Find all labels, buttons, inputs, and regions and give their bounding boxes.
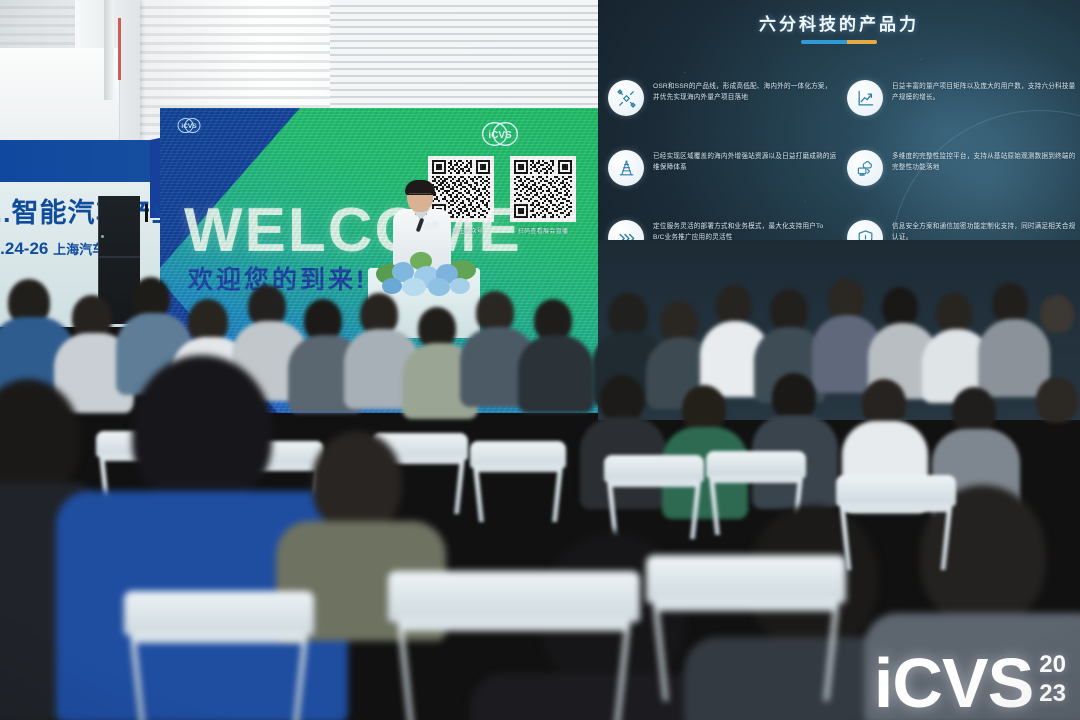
feature-item: 已经实现区域覆盖的海内外增强站资源以及日益打磨成熟的运维保障体系: [602, 148, 837, 218]
satellite-icon: [608, 80, 644, 116]
qr-card[interactable]: 扫码查看展会直播: [510, 156, 576, 235]
hall-red-pipe: [118, 18, 121, 80]
feature-item: OSR和SSR的产品线，形成高低配、海内外的一体化方案，并优先实现海内外量产项目…: [602, 78, 837, 148]
svg-text:iCVS: iCVS: [488, 130, 512, 141]
conference-photo: ...智能汽车产业 .8.24-26 上海汽车 iCVS WELCOME 欢迎您…: [0, 0, 1080, 720]
booth-doorknob: [101, 235, 104, 238]
qr-caption-2: 扫码查看展会直播: [510, 226, 576, 235]
icvs-watermark: iCVS 20 23: [874, 654, 1066, 712]
speaker-glasses: [409, 193, 431, 198]
icvs-logo-qr-icon: iCVS: [480, 120, 520, 148]
booth-wall-slit: [145, 204, 148, 222]
watermark-year-top: 20: [1039, 654, 1066, 683]
chair: [836, 475, 956, 567]
watermark-year-bottom: 23: [1039, 683, 1066, 712]
chair: [470, 441, 566, 519]
qr-row: 扫码关注公众号: [428, 156, 596, 235]
feature-text: 日益丰富的量产项目矩阵以及庞大的用户数，支持六分科技量产规模的增长。: [892, 78, 1076, 104]
slide-title: 六分科技的产品力: [598, 10, 1080, 35]
base-station-icon: [608, 150, 644, 186]
chair: [124, 591, 314, 720]
feature-text: OSR和SSR的产品线，形成高低配、海内外的一体化方案，并优先实现海内外量产项目…: [653, 78, 837, 104]
feature-text: 已经实现区域覆盖的海内外增强站资源以及日益打磨成熟的运维保障体系: [653, 148, 837, 174]
underline-segment-orange: [847, 40, 877, 44]
feature-text: 多维度的完整性监控平台，支持从基站原始观测数据到终端的完整性功能落地: [892, 148, 1076, 174]
growth-chart-icon: [847, 80, 883, 116]
watermark-year: 20 23: [1039, 654, 1066, 712]
svg-text:iCVS: iCVS: [181, 123, 197, 130]
slide-title-underline: [801, 40, 877, 44]
feature-item: 多维度的完整性监控平台，支持从基站原始观测数据到终端的完整性功能落地: [841, 148, 1076, 218]
underline-segment-blue: [801, 40, 847, 44]
chair: [388, 571, 640, 720]
icvs-logo-icon: iCVS: [176, 117, 202, 136]
chair: [646, 555, 846, 695]
hall-duct: [104, 0, 114, 100]
qr-code-image-2[interactable]: [510, 156, 576, 222]
chair: [604, 455, 704, 535]
cloud-platform-icon: [847, 150, 883, 186]
feature-item: 日益丰富的量产项目矩阵以及庞大的用户数，支持六分科技量产规模的增长。: [841, 78, 1076, 148]
watermark-brand: iCVS: [874, 655, 1033, 712]
